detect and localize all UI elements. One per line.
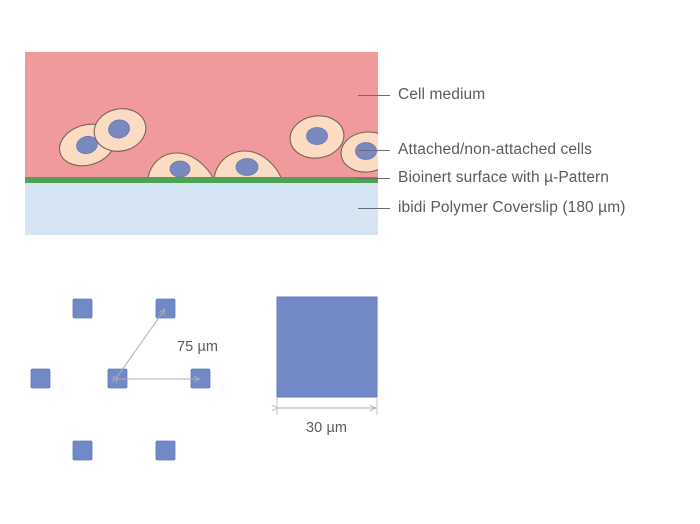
callout-coverslip: ibidi Polymer Coverslip (180 µm) bbox=[398, 200, 625, 216]
cell-nucleus bbox=[356, 143, 377, 160]
single-pattern-square bbox=[277, 297, 377, 397]
pattern-square bbox=[73, 299, 92, 318]
pattern-grid-diagram: 75 µm bbox=[25, 285, 240, 470]
cross-section-diagram bbox=[25, 52, 378, 235]
leader-line-attached-cells bbox=[358, 150, 390, 151]
figure-canvas: Cell medium Attached/non-attached cells … bbox=[0, 0, 700, 524]
cell-nucleus bbox=[236, 159, 258, 176]
bioinert-surface-layer bbox=[25, 177, 378, 183]
callout-bioinert-surface: Bioinert surface with µ-Pattern bbox=[398, 170, 609, 186]
callout-cell-medium: Cell medium bbox=[398, 87, 485, 103]
single-square-diagram: 30 µm bbox=[265, 285, 425, 445]
spacing-dimension-label: 75 µm bbox=[177, 339, 218, 355]
pattern-grid-svg bbox=[25, 285, 240, 470]
leader-line-bioinert-surface bbox=[358, 178, 390, 179]
polymer-coverslip-layer bbox=[25, 183, 378, 235]
pattern-square bbox=[156, 299, 175, 318]
pattern-square bbox=[73, 441, 92, 460]
callout-attached-cells: Attached/non-attached cells bbox=[398, 142, 592, 158]
cross-section-svg bbox=[25, 52, 378, 235]
leader-line-coverslip bbox=[358, 208, 390, 209]
cell-nucleus bbox=[307, 128, 328, 145]
size-dimension-label: 30 µm bbox=[306, 420, 347, 436]
pattern-square bbox=[31, 369, 50, 388]
pattern-square bbox=[156, 441, 175, 460]
leader-line-cell-medium bbox=[358, 95, 390, 96]
spacing-arrow-diagonal bbox=[117, 309, 165, 377]
cell-nucleus bbox=[170, 161, 190, 177]
